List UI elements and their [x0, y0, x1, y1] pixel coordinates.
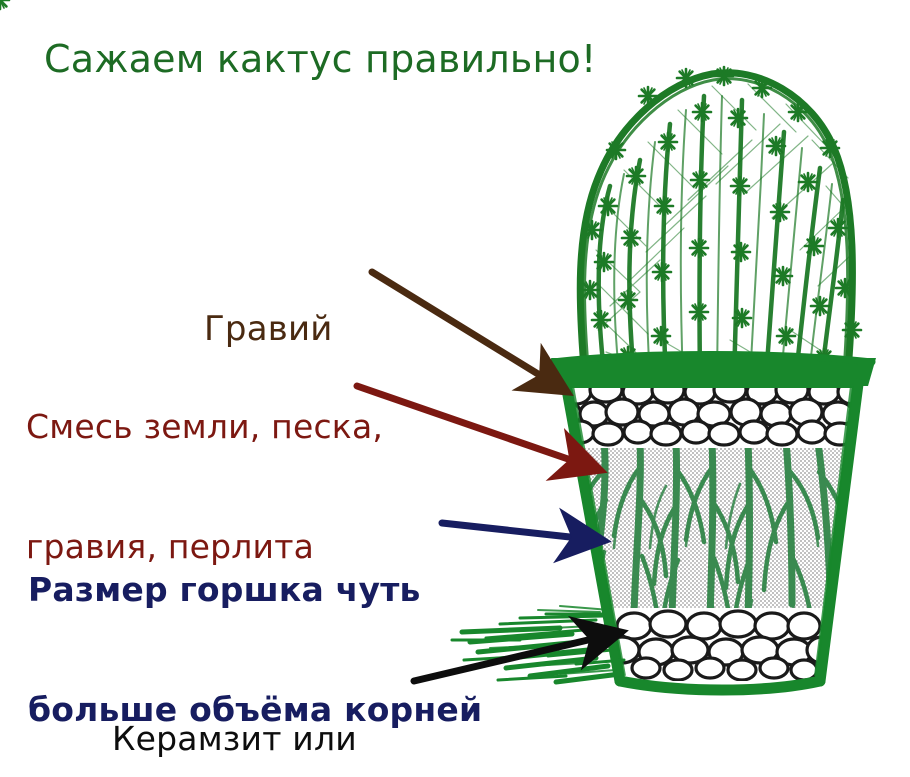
- drainage-bottom-layer: [600, 608, 850, 686]
- arrow-gravel: [372, 272, 538, 374]
- drainage-label-line-1: Керамзит или: [112, 719, 415, 759]
- page-title: Сажаем кактус правильно!: [44, 36, 596, 82]
- illustration-page: Сажаем кактус правильно! Гравий Смесь зе…: [0, 0, 910, 777]
- drainage-layer-label: Керамзит или крупный гравий: [112, 638, 415, 777]
- soil-mix-label-line-1: Смесь земли, песка,: [26, 407, 383, 447]
- pot-size-label-line-1: Размер горшка чуть: [28, 570, 482, 610]
- arrow-soil-mix: [357, 386, 568, 459]
- cactus-body: [580, 73, 852, 380]
